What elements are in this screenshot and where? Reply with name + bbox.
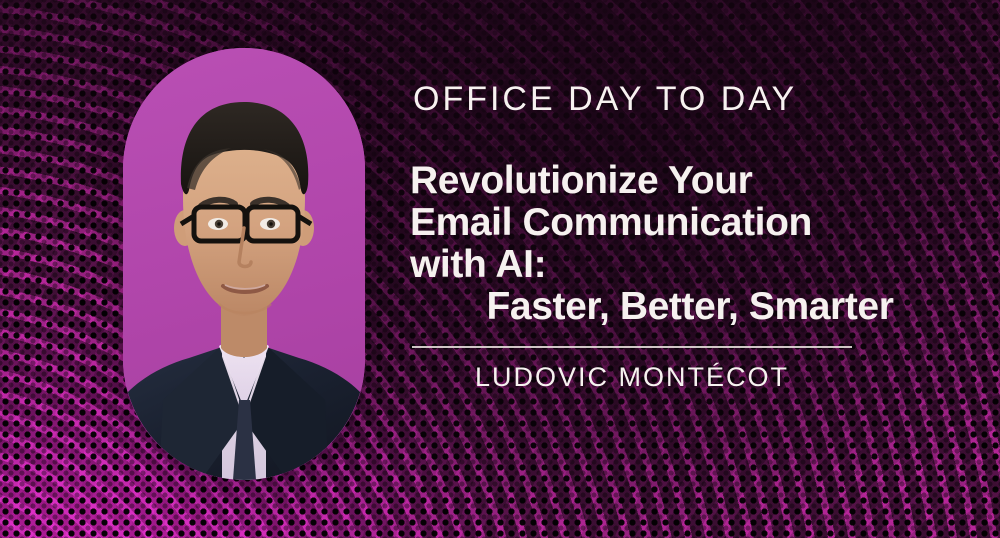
divider-rule (412, 346, 852, 348)
headline-line-3: with AI: (410, 244, 970, 286)
headline-line-4: Faster, Better, Smarter (410, 286, 970, 328)
headline-line-1: Revolutionize Your (410, 160, 970, 202)
page-title: Revolutionize Your Email Communication w… (410, 160, 970, 328)
headline-line-2: Email Communication (410, 202, 970, 244)
speaker-portrait-panel (123, 48, 365, 480)
eyebrow-label: OFFICE DAY TO DAY (413, 79, 797, 119)
text-content-column: OFFICE DAY TO DAY Revolutionize Your Ema… (410, 0, 970, 538)
speaker-name: LUDOVIC MONTÉCOT (412, 360, 852, 394)
webinar-promo-banner: OFFICE DAY TO DAY Revolutionize Your Ema… (0, 0, 1000, 538)
speaker-portrait-image (123, 48, 365, 480)
